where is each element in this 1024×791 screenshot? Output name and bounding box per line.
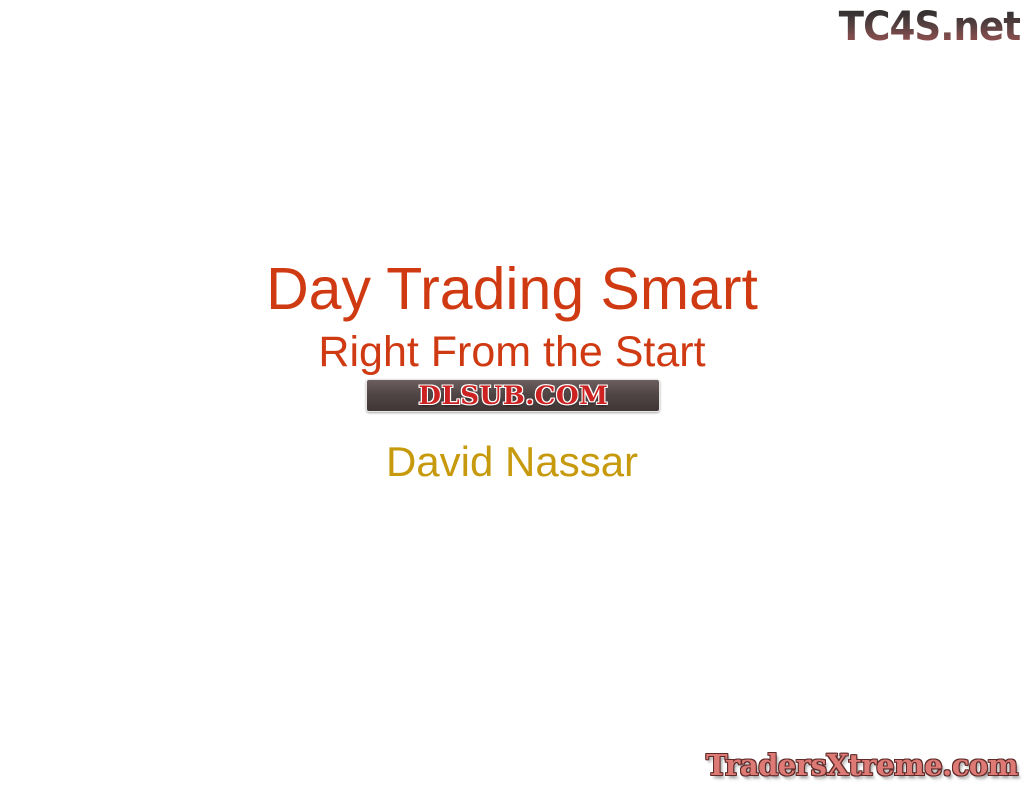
dlsub-watermark-text: DLSUB.COM xyxy=(418,382,608,409)
presentation-slide: TC4S.net Day Trading Smart Right From th… xyxy=(0,0,1024,791)
slide-author-name: David Nassar xyxy=(0,438,1024,486)
slide-author-block: David Nassar xyxy=(0,438,1024,486)
dlsub-watermark: DLSUB.COM xyxy=(366,379,660,412)
slide-subtitle: Right From the Start xyxy=(0,328,1024,376)
tc4s-logo: TC4S.net xyxy=(828,2,1020,52)
slide-main-title: Day Trading Smart xyxy=(0,258,1024,320)
tradersxtreme-watermark-text: TradersXtreme.com xyxy=(706,749,1018,781)
tc4s-logo-text: TC4S.net xyxy=(838,5,1020,49)
tradersxtreme-watermark: TradersXtreme.com xyxy=(706,744,1018,786)
slide-title-block: Day Trading Smart Right From the Start xyxy=(0,258,1024,376)
